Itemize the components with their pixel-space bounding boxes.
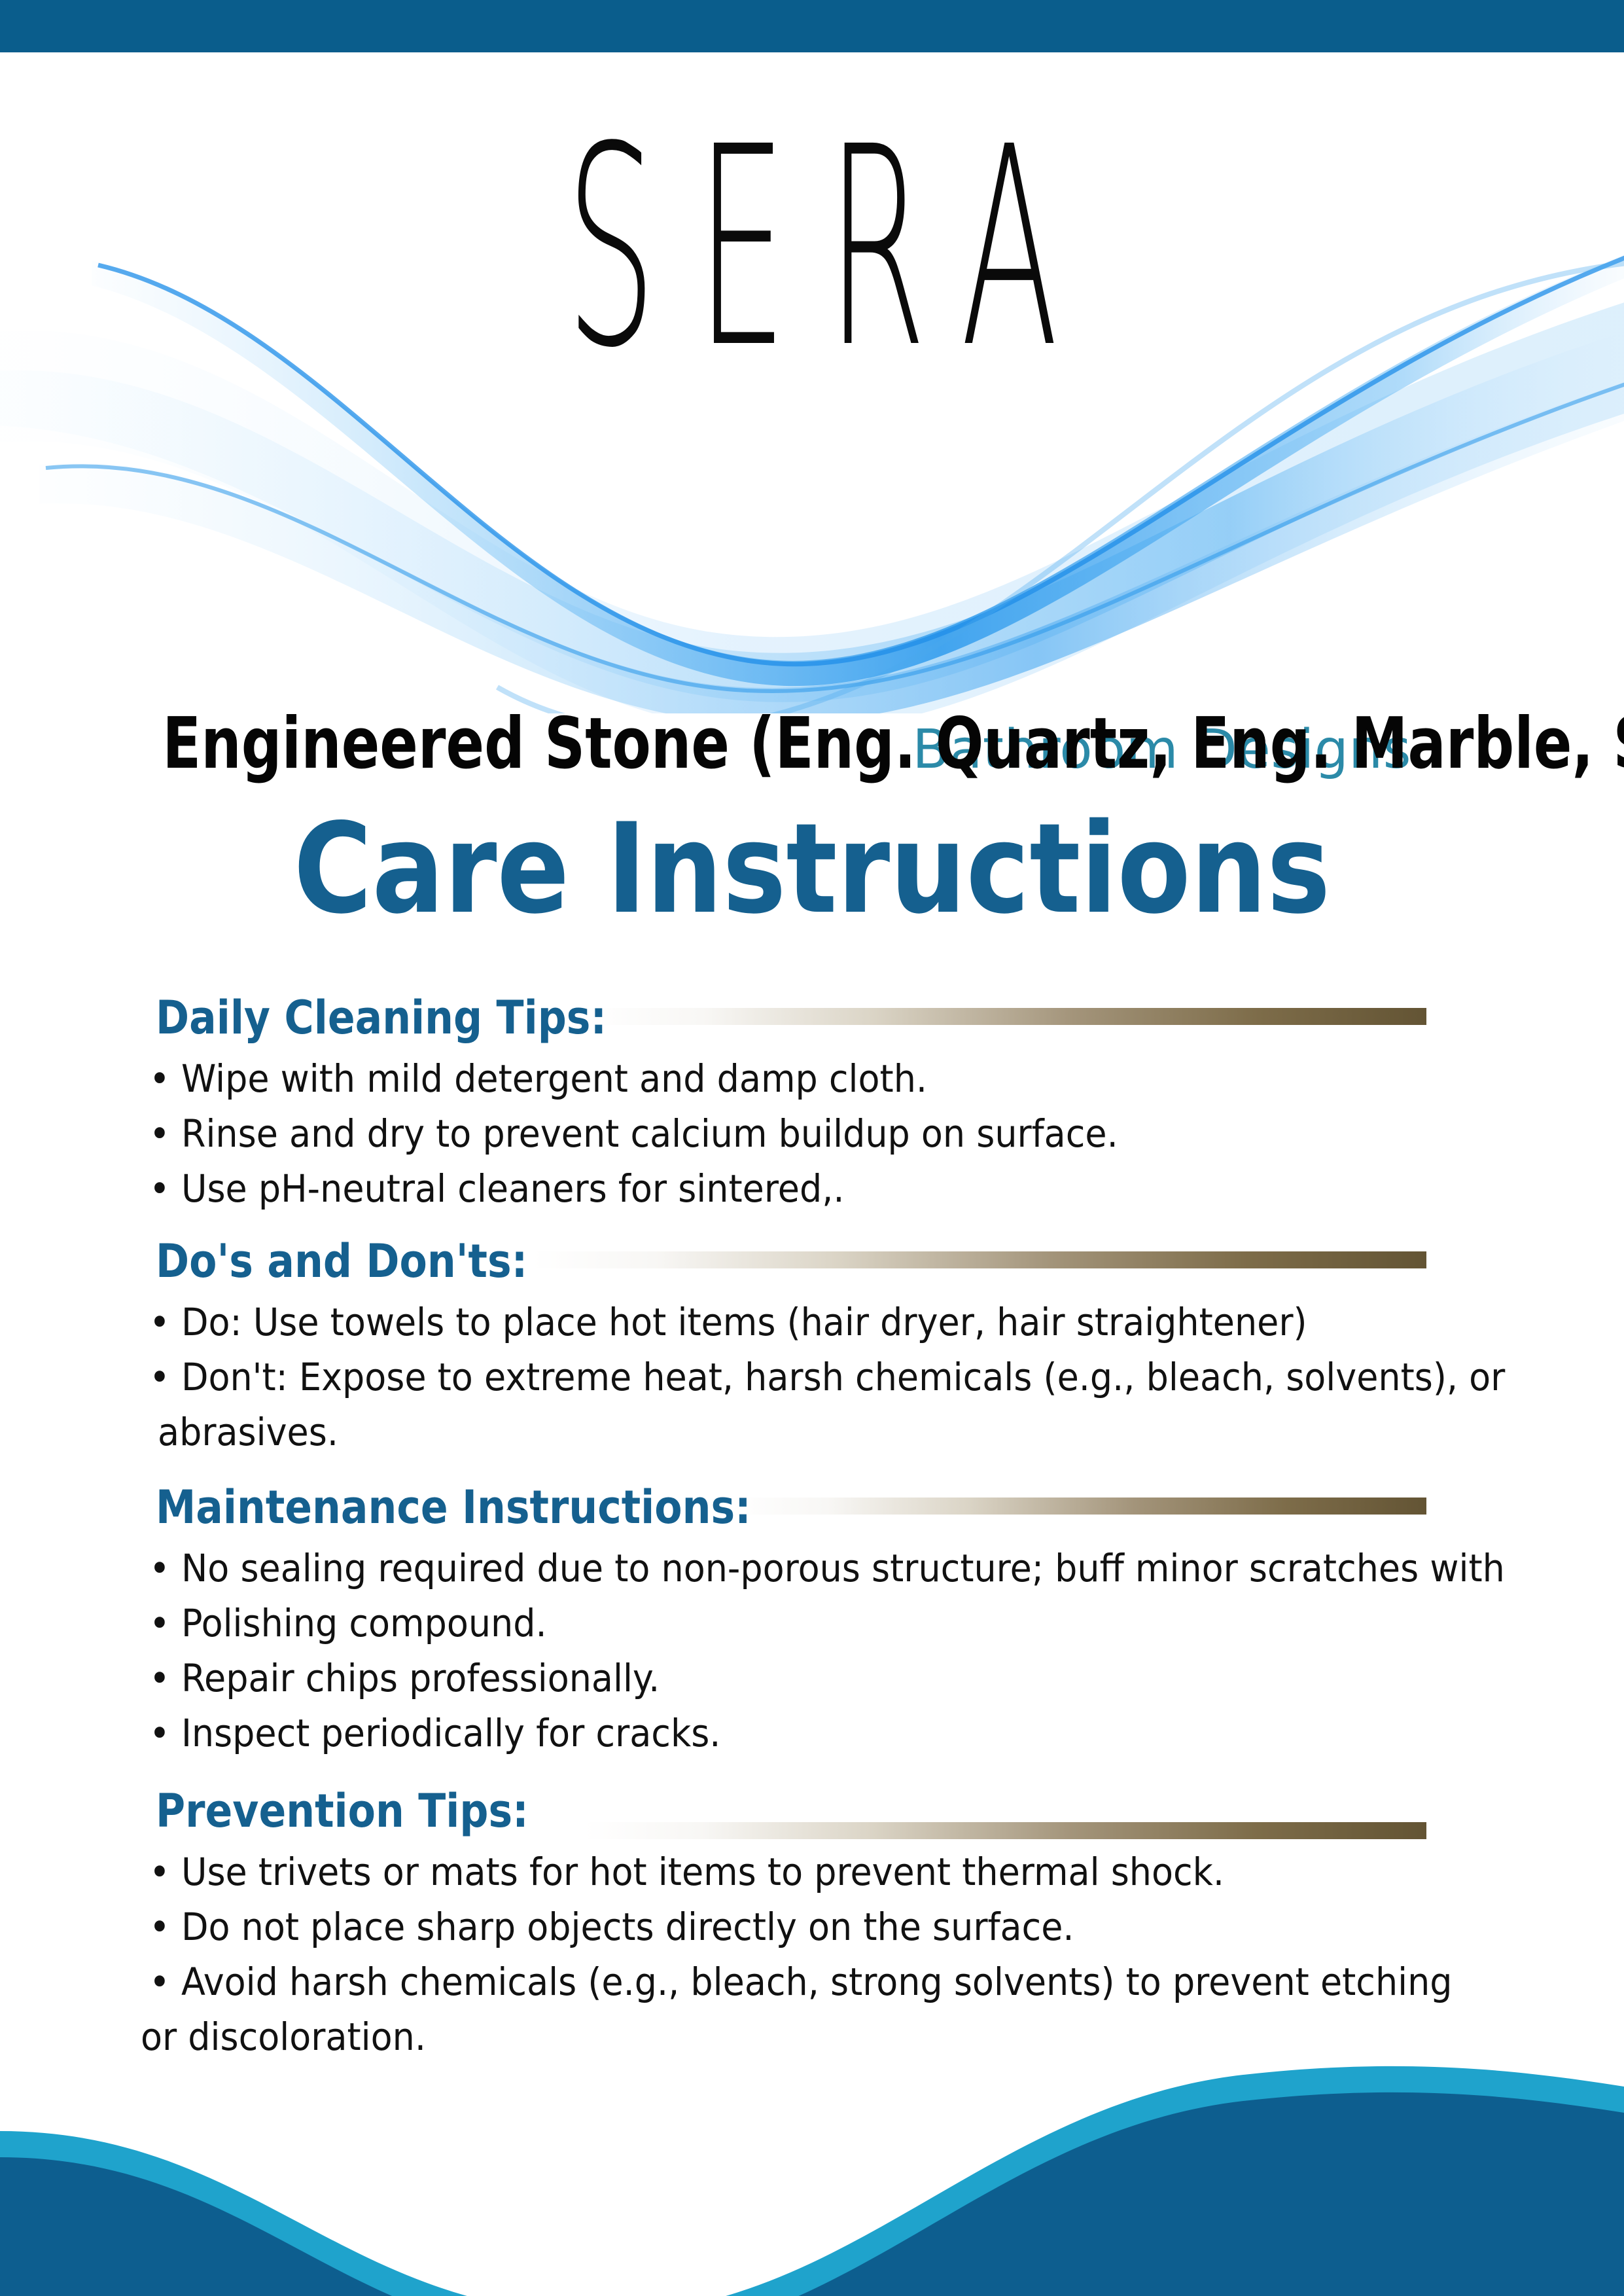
top-accent-bar: [0, 0, 1624, 52]
list-item: • Avoid harsh chemicals (e.g., bleach, s…: [149, 1954, 1521, 2064]
bullet-text: • Repair chips professionally.: [149, 1656, 660, 1700]
section-title: Daily Cleaning Tips:: [156, 988, 607, 1047]
list-item: • Repair chips professionally.: [149, 1651, 1521, 1706]
section-maintenance-instructions: Maintenance Instructions: • No sealing r…: [0, 1478, 1624, 1761]
bullet-text: • Don't: Expose to extreme heat, harsh c…: [149, 1355, 1505, 1399]
list-item: • Use pH-neutral cleaners for sintered,.: [149, 1161, 1521, 1216]
list-item: • Do not place sharp objects directly on…: [149, 1899, 1521, 1954]
bullet-list: • Wipe with mild detergent and damp clot…: [0, 1051, 1624, 1216]
product-subtitle: Engineered Stone (Eng. Quartz, Eng. Marb…: [162, 707, 1462, 781]
section-dos-and-donts: Do's and Don'ts: • Do: Use towels to pla…: [0, 1232, 1624, 1460]
bullet-list: • Do: Use towels to place hot items (hai…: [0, 1295, 1624, 1460]
list-item: • Inspect periodically for cracks.: [149, 1706, 1521, 1761]
bullet-list: • No sealing required due to non-porous …: [0, 1541, 1624, 1761]
bullet-text: • Use trivets or mats for hot items to p…: [149, 1850, 1224, 1894]
brand-wordmark: SERA: [390, 111, 1235, 386]
list-item: • No sealing required due to non-porous …: [149, 1541, 1521, 1596]
section-header: Prevention Tips:: [156, 1782, 1624, 1844]
list-item: • Rinse and dry to prevent calcium build…: [149, 1106, 1521, 1161]
bullet-text: • Rinse and dry to prevent calcium build…: [149, 1111, 1118, 1156]
bullet-text: • Do: Use towels to place hot items (hai…: [149, 1300, 1307, 1344]
section-rule-bar: [532, 1251, 1426, 1268]
section-prevention-tips: Prevention Tips: • Use trivets or mats f…: [0, 1782, 1624, 2064]
poster-page: SERA: [0, 0, 1624, 2296]
section-daily-cleaning-tips: Daily Cleaning Tips: • Wipe with mild de…: [0, 988, 1624, 1216]
bullet-text-continuation: or discoloration.: [141, 2009, 1521, 2064]
bullet-text: • Polishing compound.: [149, 1601, 547, 1645]
section-rule-bar: [584, 1822, 1426, 1839]
section-title: Do's and Don'ts:: [156, 1232, 527, 1291]
bullet-text: • Inspect periodically for cracks.: [149, 1711, 720, 1755]
section-rule-bar: [588, 1008, 1426, 1025]
list-item: • Do: Use towels to place hot items (hai…: [149, 1295, 1521, 1350]
bullet-text: • Avoid harsh chemicals (e.g., bleach, s…: [149, 1960, 1453, 2004]
section-header: Daily Cleaning Tips:: [156, 988, 1624, 1051]
bullet-text-continuation: abrasives.: [158, 1405, 1521, 1460]
footer-wave-graphic: [0, 2060, 1624, 2296]
section-rule-bar: [732, 1498, 1426, 1515]
bullet-text: • Wipe with mild detergent and damp clot…: [149, 1056, 927, 1101]
section-title: Maintenance Instructions:: [156, 1478, 751, 1537]
brand-header: SERA: [0, 98, 1624, 713]
bullet-list: • Use trivets or mats for hot items to p…: [0, 1844, 1624, 2064]
page-title: Care Instructions: [114, 804, 1511, 935]
list-item: • Use trivets or mats for hot items to p…: [149, 1844, 1521, 1899]
bullet-text: • No sealing required due to non-porous …: [149, 1546, 1505, 1590]
bullet-text: • Use pH-neutral cleaners for sintered,.: [149, 1166, 845, 1211]
list-item: • Polishing compound.: [149, 1596, 1521, 1651]
list-item: • Wipe with mild detergent and damp clot…: [149, 1051, 1521, 1106]
section-title: Prevention Tips:: [156, 1782, 529, 1840]
section-header: Maintenance Instructions:: [156, 1478, 1624, 1541]
bullet-text: • Do not place sharp objects directly on…: [149, 1905, 1074, 1949]
section-header: Do's and Don'ts:: [156, 1232, 1624, 1295]
list-item: • Don't: Expose to extreme heat, harsh c…: [149, 1350, 1521, 1460]
